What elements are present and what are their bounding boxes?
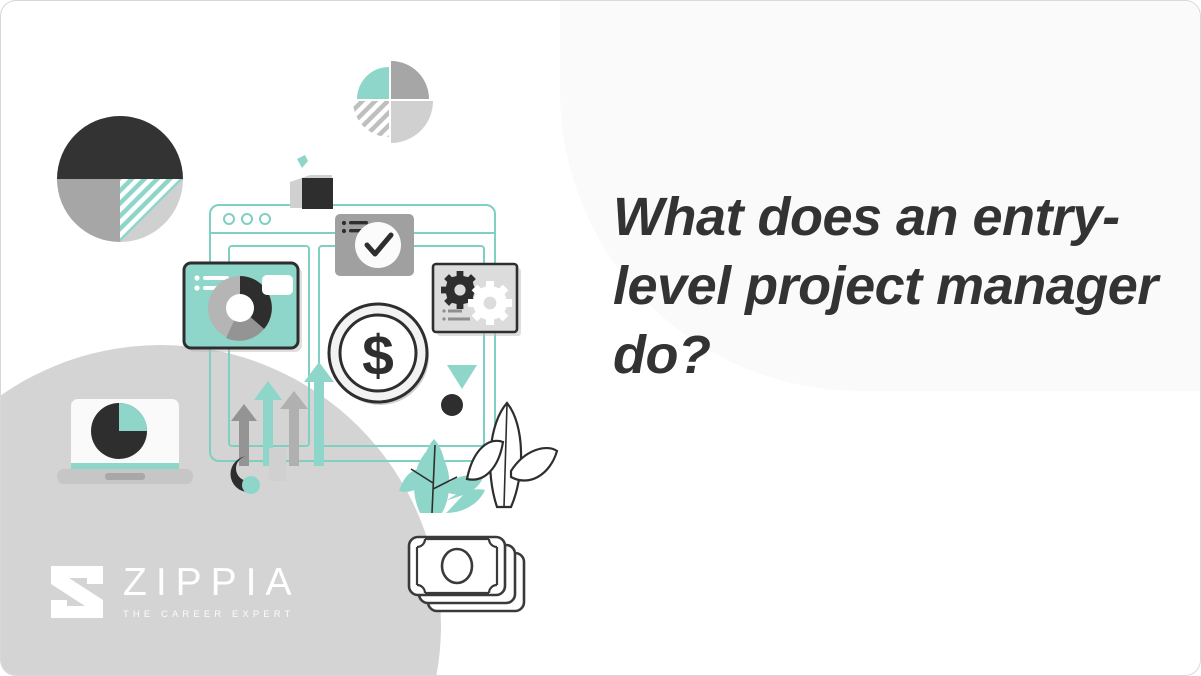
white-tag bbox=[262, 275, 293, 295]
brand-circle-background bbox=[0, 345, 441, 676]
brand-tagline: THE CAREER EXPERT bbox=[123, 609, 301, 620]
checkmark-card bbox=[335, 214, 414, 276]
brand-name: ZIPPIA bbox=[123, 563, 301, 602]
page-title: What does an entry-level project manager… bbox=[613, 183, 1158, 390]
gear-dark bbox=[441, 271, 479, 309]
check-circle bbox=[355, 222, 401, 268]
list-lines bbox=[442, 309, 470, 320]
teal-dashboard-card bbox=[184, 263, 302, 352]
dollar-coin: $ bbox=[329, 304, 429, 405]
list-icon bbox=[194, 275, 229, 290]
donut-chart bbox=[208, 276, 272, 341]
dark-square-tag bbox=[290, 155, 333, 209]
gear-white bbox=[468, 281, 512, 325]
gears-card bbox=[433, 264, 521, 336]
plant-leaves bbox=[399, 403, 557, 513]
pie-chart-large bbox=[57, 116, 183, 242]
zippia-z-mark-icon bbox=[49, 564, 105, 620]
list-icon bbox=[342, 221, 368, 233]
teal-triangle bbox=[447, 365, 477, 389]
brand-logo[interactable]: ZIPPIA THE CAREER EXPERT bbox=[49, 563, 301, 620]
promo-card: $ bbox=[0, 0, 1201, 676]
clover-flower bbox=[331, 61, 433, 143]
dark-dot bbox=[441, 394, 463, 416]
svg-text:$: $ bbox=[362, 324, 394, 388]
